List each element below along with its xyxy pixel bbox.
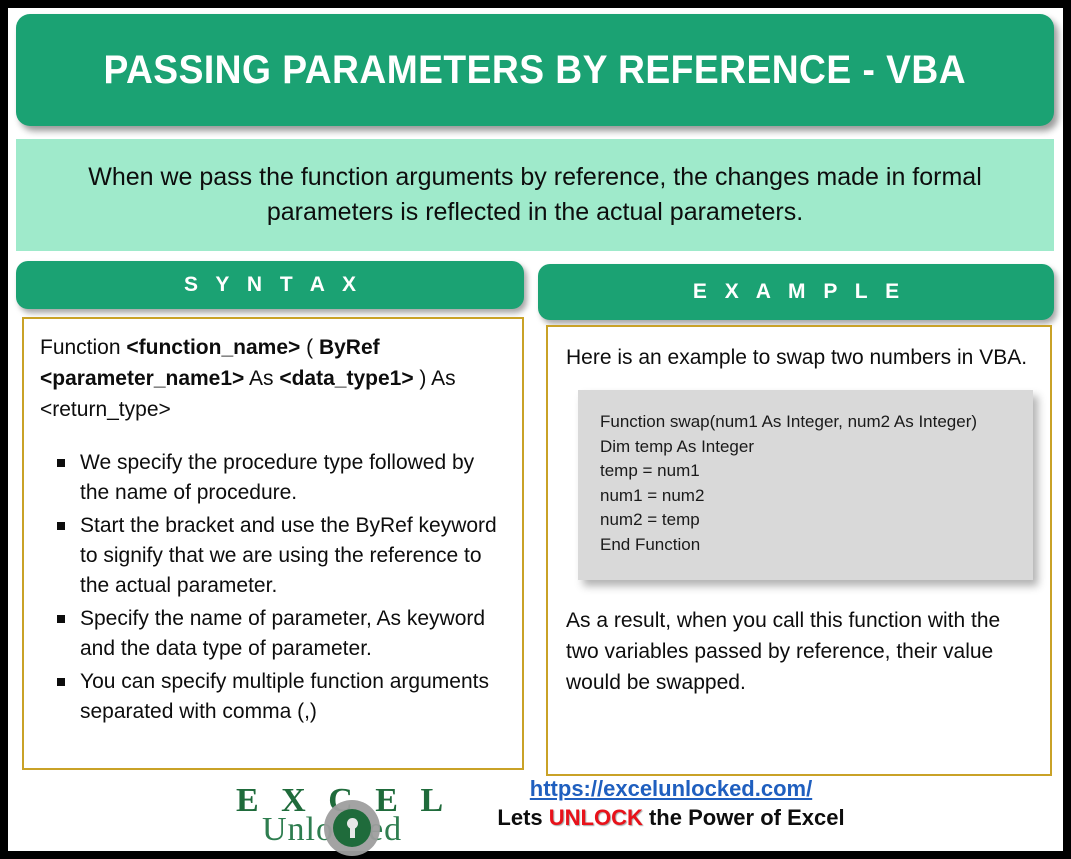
list-item: Specify the name of parameter, As keywor…: [40, 604, 506, 664]
example-header-label: E X A M P L E: [687, 280, 905, 304]
tagline-before: Lets: [497, 805, 548, 830]
page-title: PASSING PARAMETERS BY REFERENCE - VBA: [104, 48, 967, 93]
syntax-part-open-paren: (: [300, 336, 319, 359]
syntax-header-label: S Y N T A X: [178, 273, 362, 297]
code-line: Function swap(num1 As Integer, num2 As I…: [600, 410, 1033, 435]
subtitle-banner: When we pass the function arguments by r…: [16, 139, 1054, 251]
syntax-panel: Function <function_name> ( ByRef <parame…: [22, 317, 524, 770]
code-line: Dim temp As Integer: [600, 435, 1033, 460]
list-item: You can specify multiple function argume…: [40, 667, 506, 727]
example-closing-text: As a result, when you call this function…: [566, 606, 1032, 699]
subtitle-text: When we pass the function arguments by r…: [42, 160, 1028, 231]
example-intro-text: Here is an example to swap two numbers i…: [566, 343, 1032, 374]
syntax-section-header: S Y N T A X: [16, 261, 524, 309]
tagline-highlight: UNLOCK: [549, 805, 643, 830]
title-banner: PASSING PARAMETERS BY REFERENCE - VBA: [16, 14, 1054, 126]
example-section-header: E X A M P L E: [538, 264, 1054, 320]
footer-tagline: Lets UNLOCK the Power of Excel: [461, 805, 881, 831]
infographic-frame: PASSING PARAMETERS BY REFERENCE - VBA Wh…: [8, 8, 1063, 851]
website-link[interactable]: https://excelunlocked.com/: [461, 776, 881, 802]
tagline-after: the Power of Excel: [643, 805, 845, 830]
syntax-part-function: Function: [40, 336, 126, 359]
code-line: End Function: [600, 533, 1033, 558]
footer: E X C E L Unlocked https://excelunlocked…: [16, 776, 1054, 851]
vba-code-block: Function swap(num1 As Integer, num2 As I…: [578, 390, 1033, 580]
list-item: Start the bracket and use the ByRef keyw…: [40, 511, 506, 601]
syntax-bullet-list: We specify the procedure type followed b…: [40, 448, 506, 727]
code-line: num1 = num2: [600, 484, 1033, 509]
footer-branding: https://excelunlocked.com/ Lets UNLOCK t…: [461, 776, 881, 831]
code-line: temp = num1: [600, 459, 1033, 484]
list-item: We specify the procedure type followed b…: [40, 448, 506, 508]
excel-unlocked-logo: E X C E L Unlocked: [236, 778, 466, 850]
example-panel: Here is an example to swap two numbers i…: [546, 325, 1052, 776]
code-line: num2 = temp: [600, 508, 1033, 533]
syntax-part-data-type: <data_type1>: [279, 367, 413, 390]
syntax-part-as: As: [244, 367, 279, 390]
syntax-signature: Function <function_name> ( ByRef <parame…: [40, 333, 506, 426]
syntax-part-function-name: <function_name>: [126, 336, 300, 359]
padlock-keyhole-stem-icon: [350, 826, 355, 838]
